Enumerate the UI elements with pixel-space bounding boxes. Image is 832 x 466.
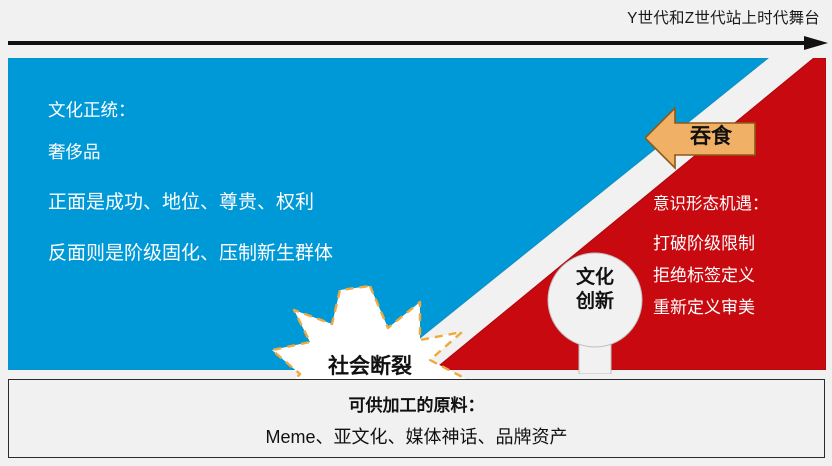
culture-innovation-callout: 文化 创新 <box>543 252 647 374</box>
bottom-box-text: 可供加工的原料： Meme、亚文化、媒体神话、品牌资产 <box>8 391 825 449</box>
red-line-2: 打破阶级限制 <box>653 235 769 252</box>
left-arrow-icon <box>645 108 755 168</box>
red-panel-text: 意识形态机遇： 打破阶级限制 拒绝标签定义 重新定义审美 <box>653 196 769 316</box>
callout-circle <box>548 253 642 347</box>
red-line-1: 意识形态机遇： <box>653 196 769 213</box>
blue-panel-text: 文化正统： 奢侈品 正面是成功、地位、尊贵、权利 反面则是阶级固化、压制新生群体 <box>48 102 333 263</box>
red-line-3: 拒绝标签定义 <box>653 267 769 284</box>
bottom-heading: 可供加工的原料： <box>8 391 825 416</box>
timeline-arrow-icon <box>8 36 828 50</box>
devour-arrow: 吞食 <box>645 100 757 170</box>
bottom-items: Meme、亚文化、媒体神话、品牌资产 <box>8 423 825 449</box>
blue-line-1: 文化正统： <box>48 102 333 120</box>
page-title: Y世代和Z世代站上时代舞台 <box>627 6 820 28</box>
blue-line-4: 反面则是阶级固化、压制新生群体 <box>48 244 333 263</box>
blue-line-2: 奢侈品 <box>48 144 333 162</box>
slide-canvas: Y世代和Z世代站上时代舞台 文化正统： 奢侈品 正面是成功、地位、尊贵、权利 反… <box>0 0 832 466</box>
red-line-4: 重新定义审美 <box>653 299 769 316</box>
blue-line-3: 正面是成功、地位、尊贵、权利 <box>48 193 333 212</box>
